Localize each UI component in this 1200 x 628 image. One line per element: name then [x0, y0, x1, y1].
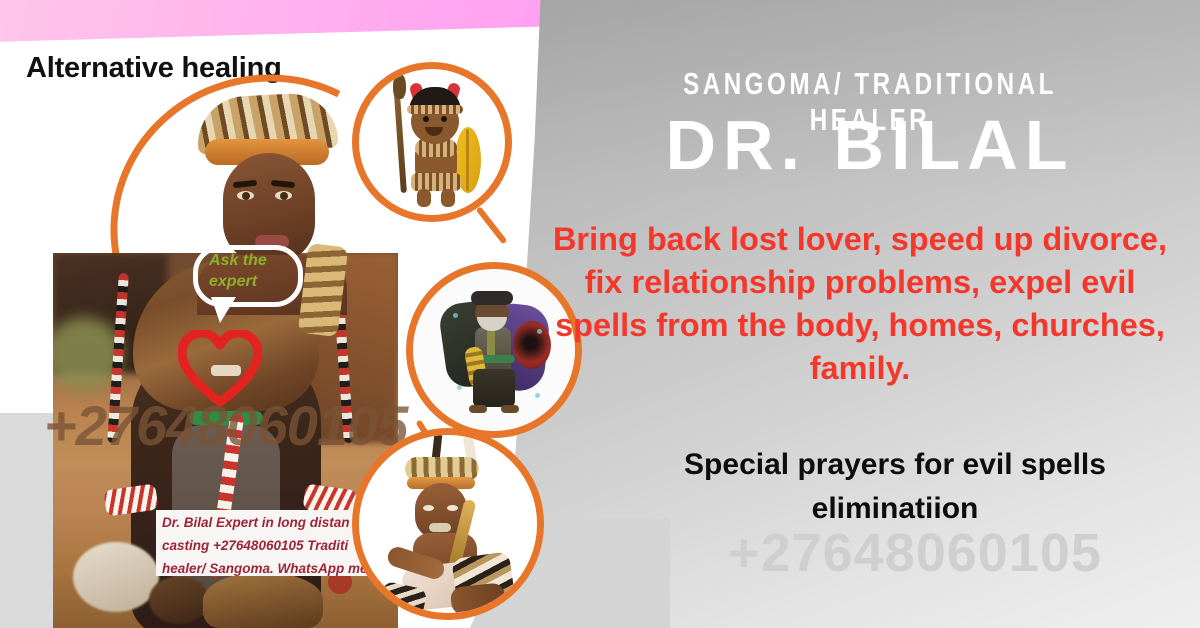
sparkle-icon [453, 313, 458, 318]
healer-foot-left [469, 405, 487, 413]
warrior-eye-right [441, 116, 447, 122]
healer-tie [487, 329, 495, 357]
crouching-sangoma-illustration [359, 435, 537, 613]
crouch-leg [450, 582, 507, 613]
speech-bubble-tail [211, 297, 236, 323]
poster-canvas: Alternative healing [0, 0, 1200, 628]
pink-top-strip [0, 0, 601, 42]
portrait-pupil-right [280, 192, 288, 200]
warrior-leg-right [441, 189, 455, 207]
services-text: Bring back lost lover, speed up divorce,… [542, 218, 1178, 390]
caption-line-1: Dr. Bilal Expert in long distan [156, 510, 382, 533]
crouch-eye-right [447, 505, 458, 511]
practitioner-name: DR. BILAL [560, 108, 1180, 182]
portrait-pupil-left [242, 192, 250, 200]
sparkle-icon [535, 393, 540, 398]
healer-hat [471, 291, 513, 305]
speech-bubble-label: Ask the expert [209, 250, 299, 292]
speech-bubble-icon: Ask the expert [193, 245, 303, 307]
warrior-leg-left [417, 189, 431, 207]
healer-foot-right [501, 405, 519, 413]
zulu-warrior-illustration [359, 69, 505, 215]
circle-crouching-sangoma [352, 428, 544, 620]
caption-line-3: healer/ Sangoma. WhatsApp me [156, 556, 382, 576]
warrior-headband [407, 105, 463, 114]
circle-zulu-warrior [352, 62, 512, 222]
crouch-mouth [429, 523, 451, 532]
photo-dark-pot [149, 576, 209, 624]
sparkle-icon [457, 385, 462, 390]
healer-pants [473, 369, 515, 407]
warrior-skirt [411, 173, 461, 191]
warrior-eye-left [423, 116, 429, 122]
photo-white-pot [73, 542, 159, 612]
phone-number-watermark: +27648060105 [640, 522, 1190, 584]
warrior-spearhead [393, 73, 406, 99]
photo-bowl [203, 572, 323, 628]
caption-line-2: casting +27648060105 Traditi [156, 533, 382, 556]
connector-line-1 [476, 206, 508, 244]
warrior-shield-stick [466, 129, 469, 191]
special-offer-text: Special prayers for evil spells eliminat… [600, 443, 1190, 531]
photo-caption-box: Dr. Bilal Expert in long distan casting … [156, 510, 382, 576]
crouch-eye-left [423, 505, 434, 511]
